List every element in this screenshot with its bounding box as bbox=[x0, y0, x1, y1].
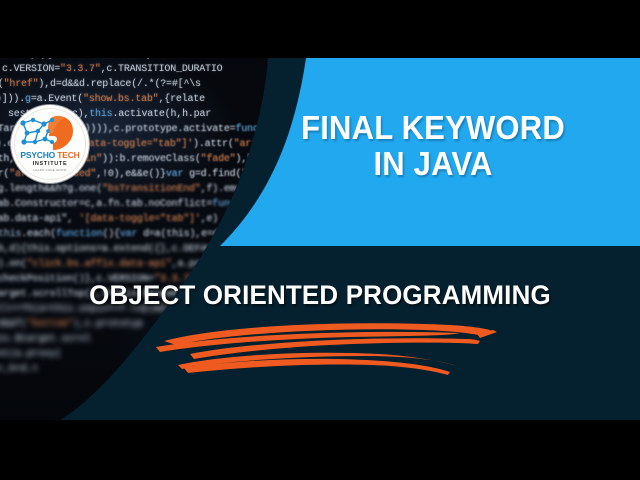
video-thumbnail: ction b(b){return this.each( c.VERSION="… bbox=[0, 0, 640, 480]
logo-name-tech: TECH bbox=[57, 150, 79, 160]
letterbox-top bbox=[0, 0, 640, 58]
code-line: ment(a.proxy( bbox=[0, 349, 61, 360]
code-line: .tab.data-api", '[data-toggle="tab"]',e) bbox=[0, 214, 218, 225]
thumbnail-content-band: ction b(b){return this.each( c.VERSION="… bbox=[0, 58, 640, 420]
orange-brush-underline-icon bbox=[150, 316, 500, 380]
code-line: r("href"),d=d&&d.replace(/.*(?=#[^\s bbox=[0, 79, 201, 90]
letterbox-bottom bbox=[0, 420, 640, 480]
logo-tagline: LEARN CODE GROW bbox=[11, 168, 89, 172]
logo-badge: PSYCHO TECH INSTITUTE LEARN CODE GROW bbox=[11, 105, 89, 183]
code-line: this.each(function(){var d=a(this),e=d.d… bbox=[0, 229, 236, 240]
code-line: ction b(b){return this.each( bbox=[0, 58, 150, 61]
code-line: e-d&&f("bottom"),c.prototyp bbox=[0, 319, 143, 330]
logo-institute: INSTITUTE bbox=[11, 161, 89, 167]
title-line-2: IN JAVA bbox=[278, 146, 588, 182]
page-title: FINAL KEYWORD IN JAVA bbox=[268, 110, 598, 181]
title-line-1: FINAL KEYWORD bbox=[278, 110, 588, 146]
code-line: .tab.Constructor=c,a.fn.tab.noConflict=f… bbox=[0, 199, 247, 210]
code-line: this.$target.scrol bbox=[0, 334, 90, 345]
brain-network-icon bbox=[11, 109, 89, 155]
code-line: ):g.length&&h?g.one("bsTransitionEnd",f)… bbox=[0, 184, 253, 195]
logo-name: PSYCHO TECH bbox=[11, 150, 89, 160]
code-line: c.VERSION="3.3.7",c.TRANSITION_DURATIO bbox=[2, 64, 222, 75]
code-line: tar,b=d.t bbox=[0, 364, 38, 375]
subtitle: OBJECT ORIENTED PROGRAMMING bbox=[13, 280, 627, 311]
code-line: n(b,d){this.options=a.extend({},c.DEFAUL… bbox=[0, 244, 230, 255]
logo-name-psycho: PSYCHO bbox=[20, 150, 55, 160]
code-line: })).on("click.bs.affix.data-api",a.proxy… bbox=[0, 259, 230, 270]
code-line: )])).g=a.Event("show.bs.tab",{relate bbox=[0, 94, 205, 105]
